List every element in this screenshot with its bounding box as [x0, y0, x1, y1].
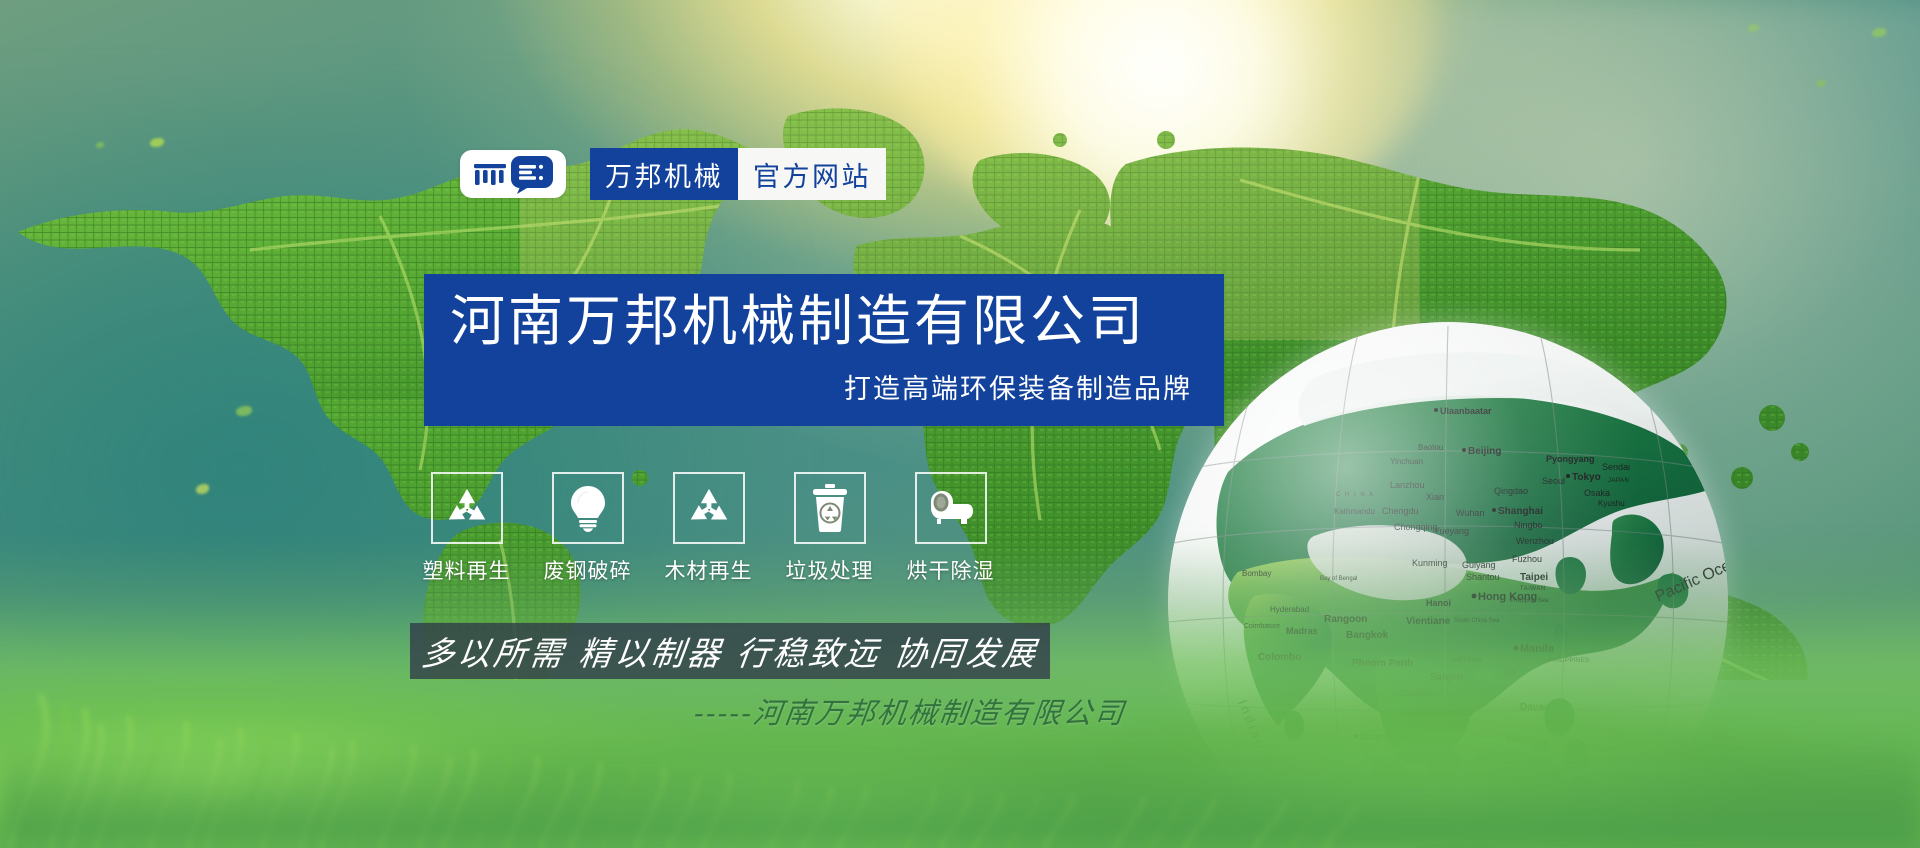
- feature-label: 垃圾处理: [786, 555, 874, 585]
- svg-text:Shanghai: Shanghai: [1498, 506, 1543, 517]
- svg-text:Chongqing: Chongqing: [1394, 522, 1438, 532]
- feature-item-waste-processing[interactable]: 垃圾处理: [781, 472, 878, 585]
- svg-text:C H I N A: C H I N A: [1336, 492, 1375, 498]
- feature-item-drying-dehumidifying[interactable]: 烘干除湿: [902, 472, 999, 585]
- dryer-icon: [927, 490, 975, 526]
- feature-icon-row: 塑料再生 废钢破碎: [418, 472, 999, 585]
- svg-text:JAPAN: JAPAN: [1608, 478, 1629, 484]
- slogan-text: 多以所需 精以制器 行稳致远 协同发展: [419, 627, 1041, 675]
- feature-item-plastic-recycling[interactable]: 塑料再生: [418, 472, 515, 585]
- feature-icon-box: [794, 472, 866, 544]
- svg-text:Sendai: Sendai: [1602, 462, 1630, 472]
- svg-text:Pyongyang: Pyongyang: [1546, 454, 1595, 464]
- feature-label: 木材再生: [665, 555, 753, 585]
- slogan-banner: 多以所需 精以制器 行稳致远 协同发展: [410, 623, 1050, 679]
- hero-banner: Ulaanbaatar Beijing Baotou Yinchuan Lanz…: [0, 0, 1920, 848]
- recycle-icon: [686, 485, 732, 531]
- svg-text:Beijing: Beijing: [1468, 446, 1501, 457]
- feature-icon-box: [673, 472, 745, 544]
- svg-text:Osaka: Osaka: [1584, 488, 1610, 498]
- svg-text:Ulaanbaatar: Ulaanbaatar: [1440, 406, 1492, 416]
- brand-logo-mark[interactable]: [460, 150, 566, 198]
- svg-text:Yueyang: Yueyang: [1434, 526, 1469, 536]
- hero-title-card: 河南万邦机械制造有限公司 打造高端环保装备制造品牌: [424, 274, 1224, 426]
- grass-shadow: [0, 728, 1920, 848]
- svg-text:Qingdao: Qingdao: [1494, 486, 1528, 496]
- feature-label: 废钢破碎: [544, 555, 632, 585]
- svg-text:Seoul: Seoul: [1542, 476, 1565, 486]
- page-title: 河南万邦机械制造有限公司: [450, 294, 1192, 349]
- brand-site-label[interactable]: 官方网站: [738, 148, 886, 200]
- feature-item-wood-recycling[interactable]: 木材再生: [660, 472, 757, 585]
- svg-text:Kathmandu: Kathmandu: [1334, 507, 1375, 516]
- logo-spacer: [566, 148, 590, 200]
- feature-icon-box: [915, 472, 987, 544]
- e-speech-bubble-icon: [511, 154, 553, 194]
- svg-text:Wuhan: Wuhan: [1456, 508, 1484, 518]
- svg-text:Lanzhou: Lanzhou: [1390, 480, 1425, 490]
- brand-name-cn[interactable]: 万邦机械: [590, 148, 738, 200]
- svg-text:Kyushu: Kyushu: [1598, 499, 1625, 508]
- feature-label: 烘干除湿: [907, 555, 995, 585]
- page-subtitle: 打造高端环保装备制造品牌: [450, 367, 1192, 406]
- trash-bin-icon: [811, 484, 849, 532]
- brand-logo-bar[interactable]: 万邦机械 官方网站: [460, 148, 886, 200]
- lightbulb-icon: [567, 484, 609, 532]
- svg-text:Baotou: Baotou: [1418, 443, 1443, 452]
- w-monogram-icon: [473, 159, 507, 189]
- svg-text:Chengdu: Chengdu: [1382, 506, 1419, 516]
- feature-icon-box: [552, 472, 624, 544]
- svg-text:Xian: Xian: [1426, 492, 1444, 502]
- feature-icon-box: [431, 472, 503, 544]
- svg-text:Ningbo: Ningbo: [1514, 520, 1543, 530]
- feature-label: 塑料再生: [423, 555, 511, 585]
- slogan-attribution: -----河南万邦机械制造有限公司: [637, 690, 1182, 732]
- feature-item-steel-crushing[interactable]: 废钢破碎: [539, 472, 636, 585]
- svg-text:Tokyo: Tokyo: [1572, 472, 1601, 483]
- svg-text:Yinchuan: Yinchuan: [1390, 457, 1423, 466]
- recycle-icon: [444, 485, 490, 531]
